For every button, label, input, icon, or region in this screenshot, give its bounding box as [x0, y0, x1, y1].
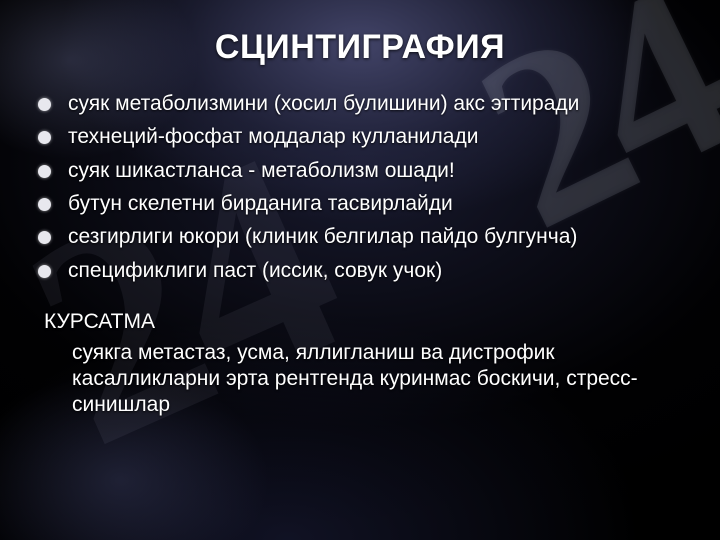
indication-heading: КУРСАТМА: [30, 309, 690, 334]
list-item: бутун скелетни бирданига тасвирлайди: [30, 192, 690, 216]
list-item: суяк метаболизмини (хосил булишини) акс …: [30, 92, 690, 116]
bullet-dot-icon: [38, 265, 51, 278]
list-item-text: спецификлиги паст (иссик, совук учок): [68, 259, 442, 282]
bullet-dot-icon: [38, 165, 51, 178]
list-item: сезгирлиги юкори (клиник белгилар пайдо …: [30, 225, 690, 249]
list-item-text: суяк метаболизмини (хосил булишини) акс …: [68, 92, 579, 115]
slide-body: суяк метаболизмини (хосил булишини) акс …: [30, 92, 690, 417]
list-item-text: технеций-фосфат моддалар кулланилади: [68, 125, 478, 148]
list-item: суяк шикастланса - метаболизм ошади!: [30, 159, 690, 183]
list-item-text: сезгирлиги юкори (клиник белгилар пайдо …: [68, 225, 577, 248]
list-item-text: суяк шикастланса - метаболизм ошади!: [68, 159, 455, 182]
list-item: спецификлиги паст (иссик, совук учок): [30, 259, 690, 283]
slide: 24 24 СЦИНТИГРАФИЯ суяк метаболизмини (х…: [0, 0, 720, 540]
bullet-dot-icon: [38, 98, 51, 111]
bullet-dot-icon: [38, 198, 51, 211]
list-item: технеций-фосфат моддалар кулланилади: [30, 125, 690, 149]
slide-title: СЦИНТИГРАФИЯ: [0, 28, 720, 67]
bullet-dot-icon: [38, 131, 51, 144]
bullet-dot-icon: [38, 231, 51, 244]
indication-text: суякга метастаз, усма, яллигланиш ва дис…: [30, 340, 690, 417]
list-item-text: бутун скелетни бирданига тасвирлайди: [68, 192, 453, 215]
indication-note: КУРСАТМА суякга метастаз, усма, яллиглан…: [30, 309, 690, 417]
bullet-list: суяк метаболизмини (хосил булишини) акс …: [30, 92, 690, 283]
